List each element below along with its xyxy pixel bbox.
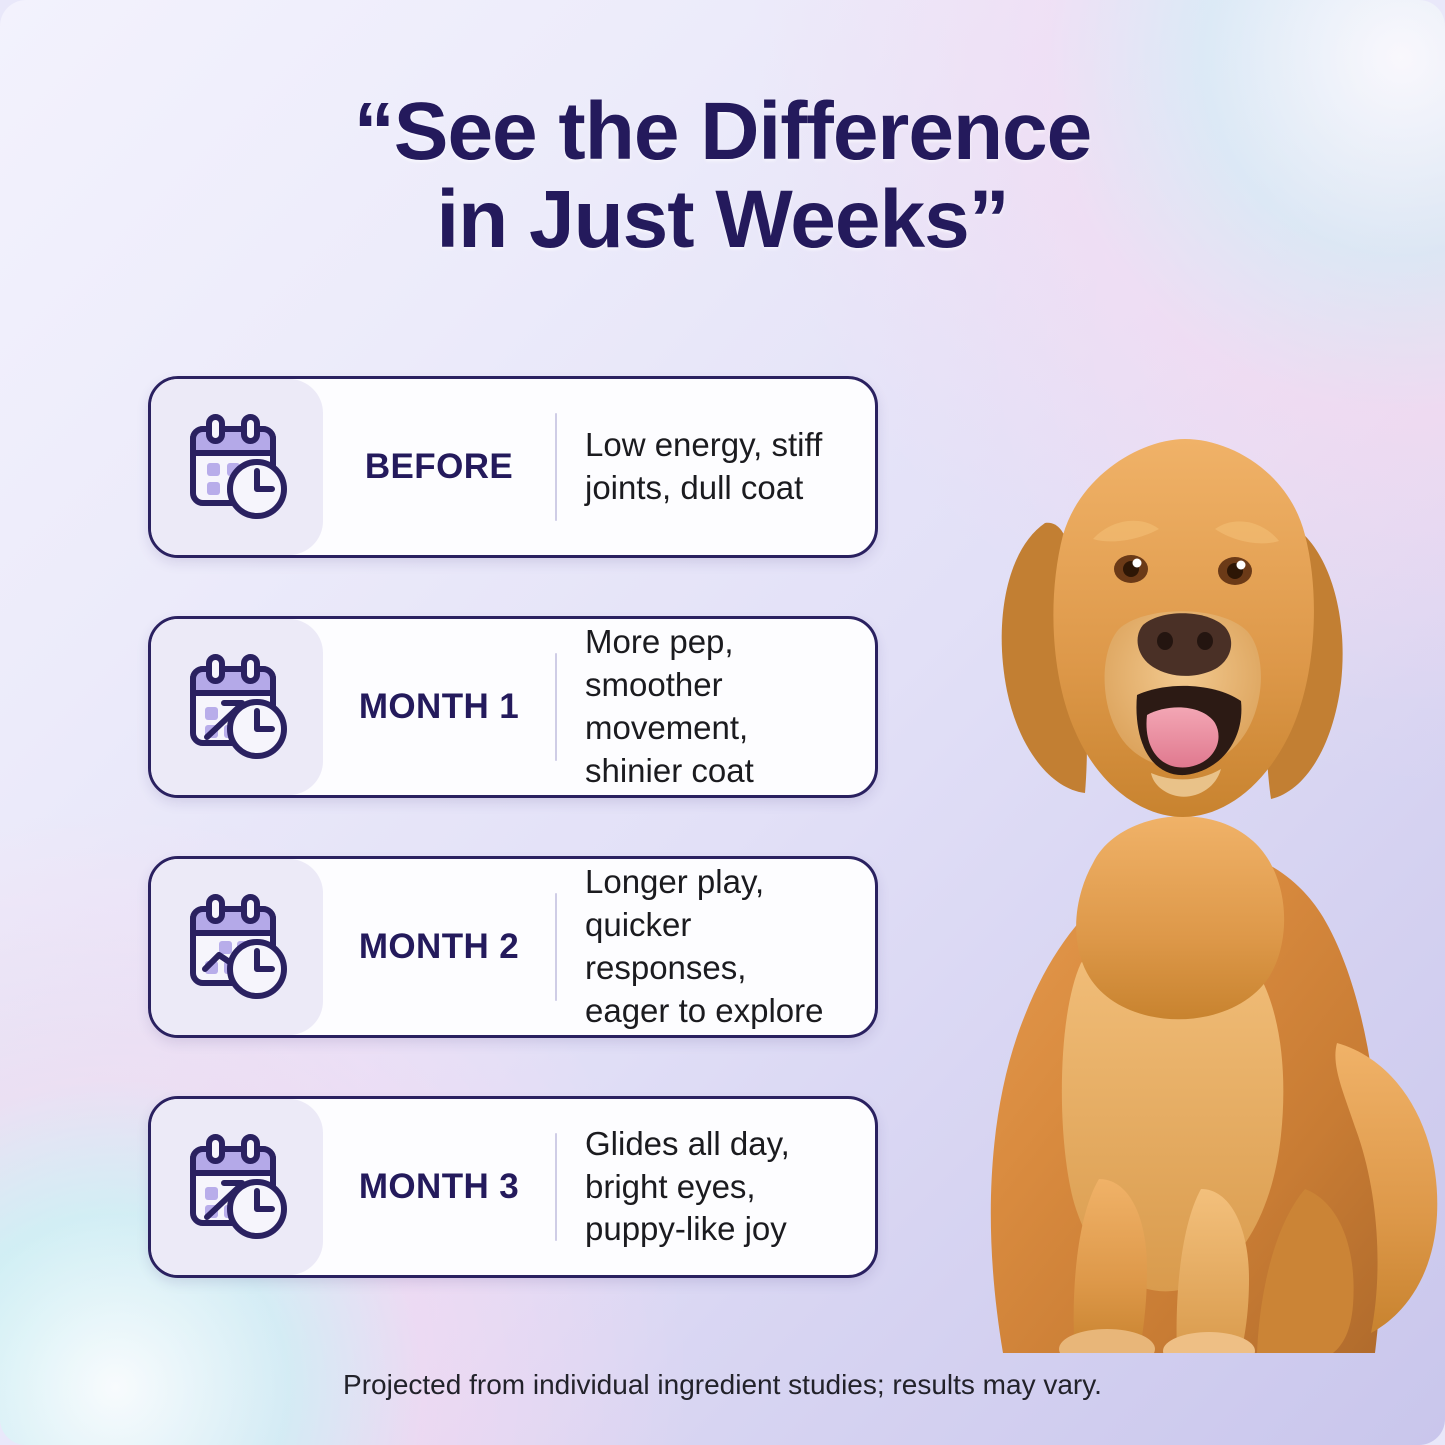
disclaimer-text: Projected from individual ingredient stu…: [0, 1369, 1445, 1401]
calendar-trend-line-clock-icon: [179, 889, 295, 1005]
phase-label: MONTH 1: [323, 619, 555, 795]
phase-description: Longer play, quicker responses, eager to…: [557, 859, 875, 1035]
timeline-list: BEFORE Low energy, stiff joints, dull co…: [148, 376, 878, 1278]
page-title: “See the Difference in Just Weeks”: [0, 88, 1445, 263]
icon-tile: [151, 619, 323, 795]
icon-tile: [151, 379, 323, 555]
timeline-card-month-2[interactable]: MONTH 2 Longer play, quicker responses, …: [148, 856, 878, 1038]
phase-label: BEFORE: [323, 379, 555, 555]
calendar-arrow-up-clock-icon: [179, 649, 295, 765]
phase-description: Low energy, stiff joints, dull coat: [557, 379, 875, 555]
phase-label: MONTH 3: [323, 1099, 555, 1275]
icon-tile: [151, 859, 323, 1035]
timeline-card-month-1[interactable]: MONTH 1 More pep, smoother movement, shi…: [148, 616, 878, 798]
calendar-arrow-up-clock-icon: [179, 1129, 295, 1245]
icon-tile: [151, 1099, 323, 1275]
phase-description: More pep, smoother movement, shinier coa…: [557, 619, 875, 795]
phase-label: MONTH 2: [323, 859, 555, 1035]
timeline-card-before[interactable]: BEFORE Low energy, stiff joints, dull co…: [148, 376, 878, 558]
phase-description: Glides all day, bright eyes, puppy-like …: [557, 1099, 875, 1275]
promo-graphic: “See the Difference in Just Weeks”: [0, 0, 1445, 1445]
calendar-clock-icon: [179, 409, 295, 525]
timeline-card-month-3[interactable]: MONTH 3 Glides all day, bright eyes, pup…: [148, 1096, 878, 1278]
golden-retriever-sitting-photo: [885, 343, 1445, 1353]
